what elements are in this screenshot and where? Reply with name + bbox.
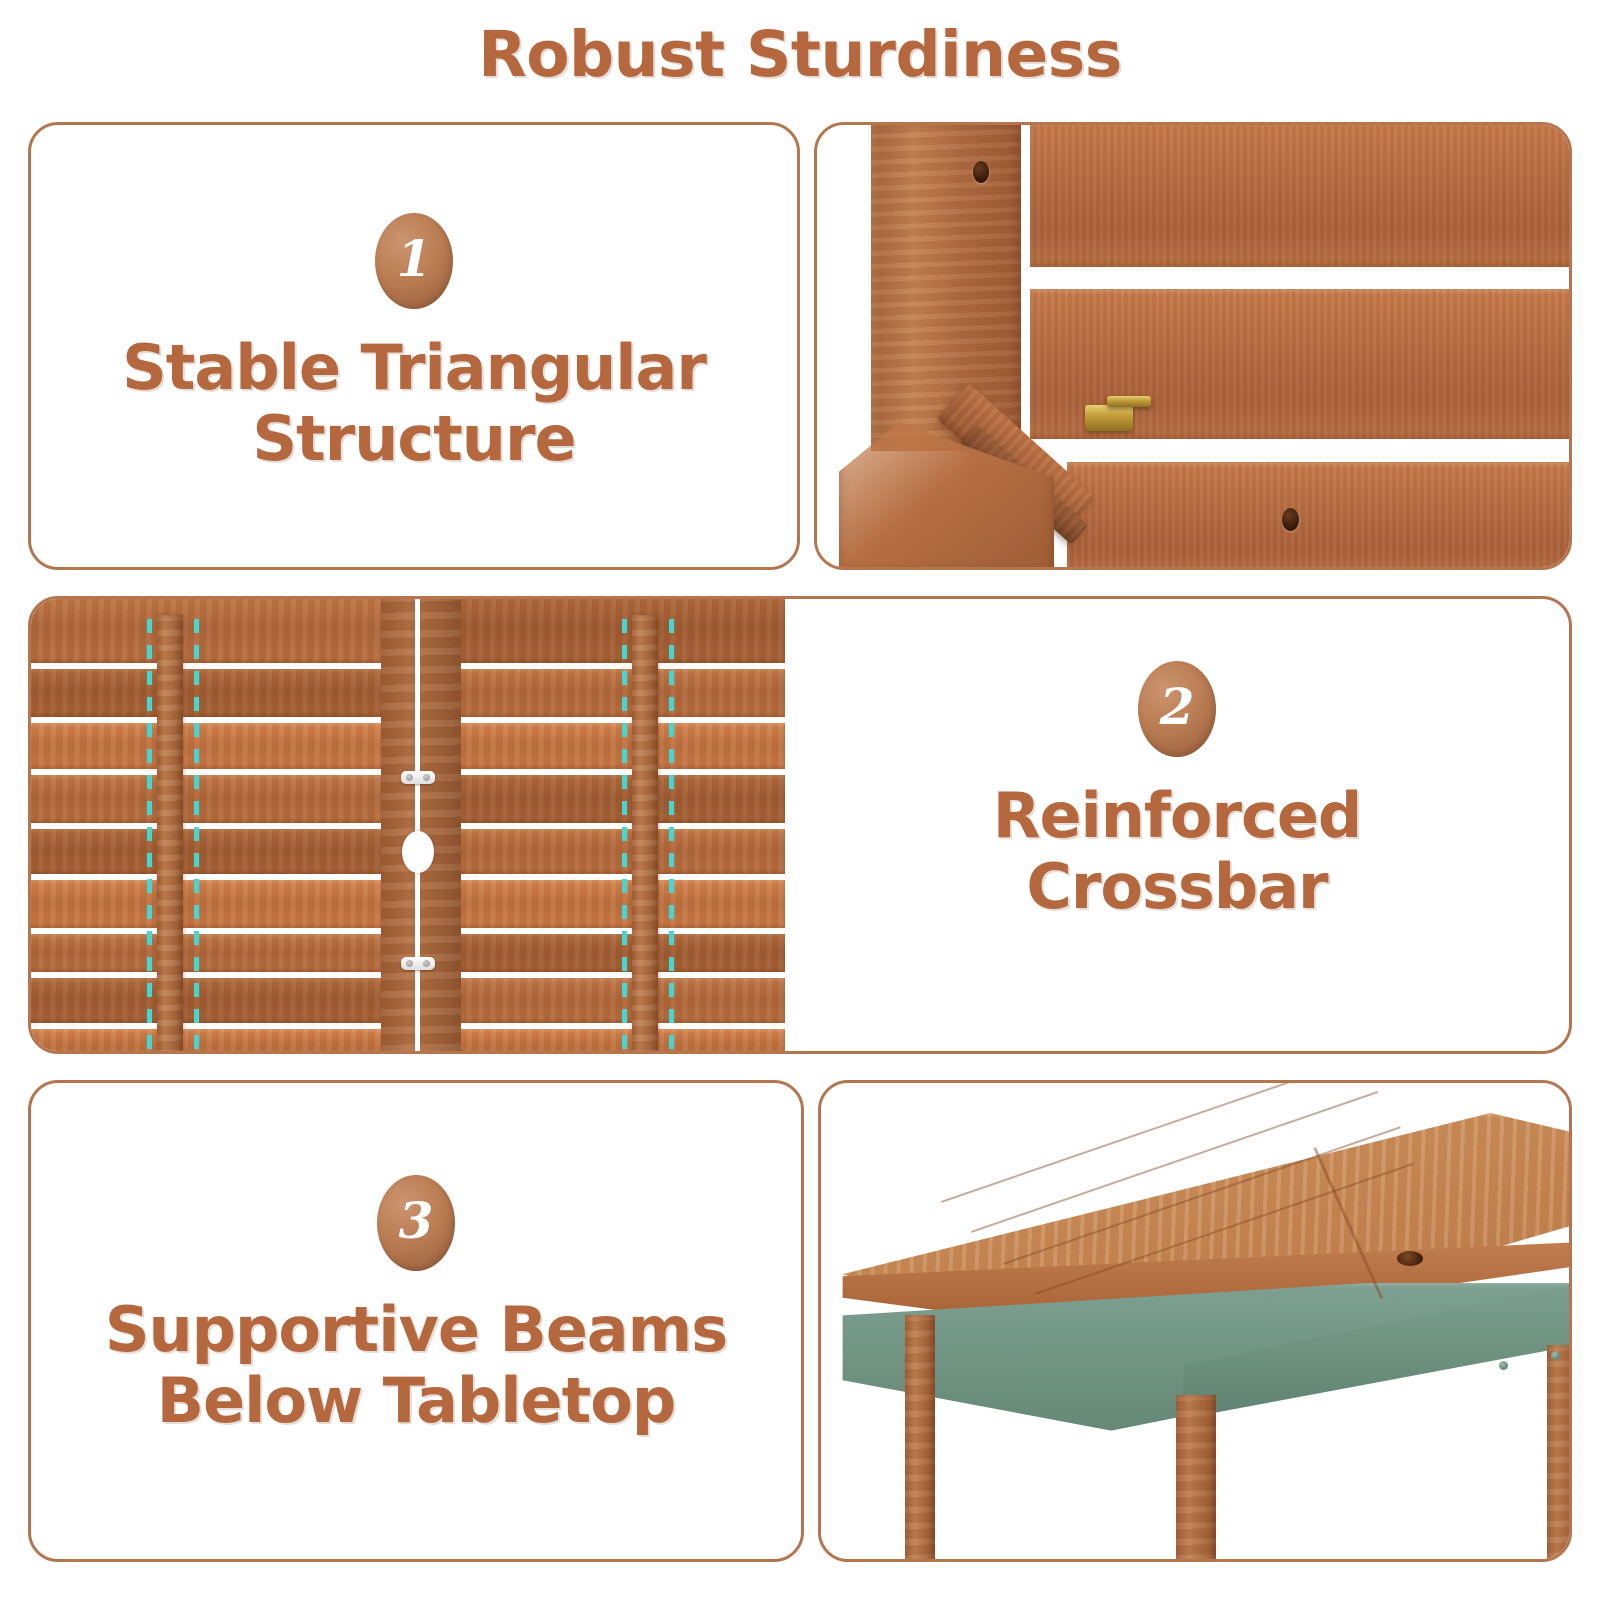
feature-3-text-block: 3 Supportive Beams Below Tabletop	[31, 1175, 801, 1436]
hinge-plate	[401, 957, 435, 970]
feature-2-headline-line2: Crossbar	[813, 852, 1541, 923]
table-leg-left	[905, 1315, 935, 1562]
wood-plank	[455, 596, 785, 663]
wood-plank	[455, 1029, 785, 1054]
crossbar-highlight-dash	[194, 619, 199, 1054]
fold-seam	[415, 596, 420, 1054]
wood-plank	[455, 978, 785, 1023]
feature-2-photo	[31, 599, 779, 1051]
feature-1-number: 1	[397, 234, 432, 284]
wood-plank	[28, 978, 387, 1023]
feature-1-text-card: 1 Stable Triangular Structure	[28, 122, 800, 570]
wood-plank	[28, 934, 387, 972]
wood-post	[871, 122, 1021, 451]
metal-bolt	[1085, 405, 1133, 431]
crossbar-highlight-dash	[622, 619, 627, 1054]
feature-3-image-card	[818, 1080, 1572, 1562]
feature-1-photo	[817, 125, 1569, 567]
wood-slat	[1030, 122, 1572, 267]
beam-screw	[1551, 1351, 1560, 1360]
feature-3-headline-line1: Supportive Beams	[65, 1295, 767, 1366]
feature-1-headline: Stable Triangular Structure	[31, 333, 797, 474]
center-spine	[381, 596, 461, 1054]
reinforced-crossbar	[157, 615, 183, 1054]
screw-hole	[973, 161, 989, 183]
wood-plank	[455, 723, 785, 769]
wood-rail	[1067, 462, 1572, 570]
screw-hole	[1282, 508, 1299, 531]
feature-1-text-block: 1 Stable Triangular Structure	[31, 213, 797, 474]
feature-3-headline: Supportive Beams Below Tabletop	[31, 1295, 801, 1436]
wood-plank	[28, 880, 387, 928]
feature-2-headline: Reinforced Crossbar	[779, 781, 1572, 922]
feature-1-headline-line2: Structure	[65, 404, 763, 475]
feature-3-text-card: 3 Supportive Beams Below Tabletop	[28, 1080, 804, 1562]
feature-3-photo	[821, 1083, 1569, 1559]
crossbar-highlight-dash	[147, 619, 152, 1054]
umbrella-hole	[1397, 1251, 1423, 1266]
wood-plank	[455, 880, 785, 928]
wood-plank	[455, 934, 785, 972]
crossbar-highlight-dash	[669, 619, 674, 1054]
feature-1-number-badge: 1	[375, 213, 453, 309]
feature-2-card: 2 Reinforced Crossbar	[28, 596, 1572, 1054]
feature-2-text-block: 2 Reinforced Crossbar	[779, 661, 1572, 922]
page-title: Robust Sturdiness	[0, 18, 1600, 91]
wood-plank	[455, 829, 785, 874]
feature-3-number: 3	[399, 1196, 434, 1246]
wood-plank	[28, 669, 387, 717]
wood-plank	[455, 775, 785, 823]
wood-plank	[28, 829, 387, 874]
beam-screw	[1499, 1361, 1508, 1370]
reinforced-crossbar	[632, 615, 658, 1054]
feature-2-number-badge: 2	[1138, 661, 1216, 757]
feature-1-image-card	[814, 122, 1572, 570]
feature-3-headline-line2: Below Tabletop	[65, 1366, 767, 1437]
feature-2-number: 2	[1160, 682, 1195, 732]
feature-1-headline-line1: Stable Triangular	[65, 333, 763, 404]
feature-3-number-badge: 3	[377, 1175, 455, 1271]
table-leg-front	[1176, 1395, 1216, 1562]
hinge-plate	[401, 771, 435, 784]
wood-plank	[28, 723, 387, 769]
table-leg-right	[1547, 1345, 1572, 1562]
metal-bolt-stem	[1107, 396, 1151, 407]
wood-plank	[28, 775, 387, 823]
wood-plank	[455, 669, 785, 717]
wood-plank	[28, 1029, 387, 1054]
feature-2-headline-line1: Reinforced	[813, 781, 1541, 852]
wood-plank	[28, 596, 387, 663]
umbrella-hole	[402, 831, 434, 873]
